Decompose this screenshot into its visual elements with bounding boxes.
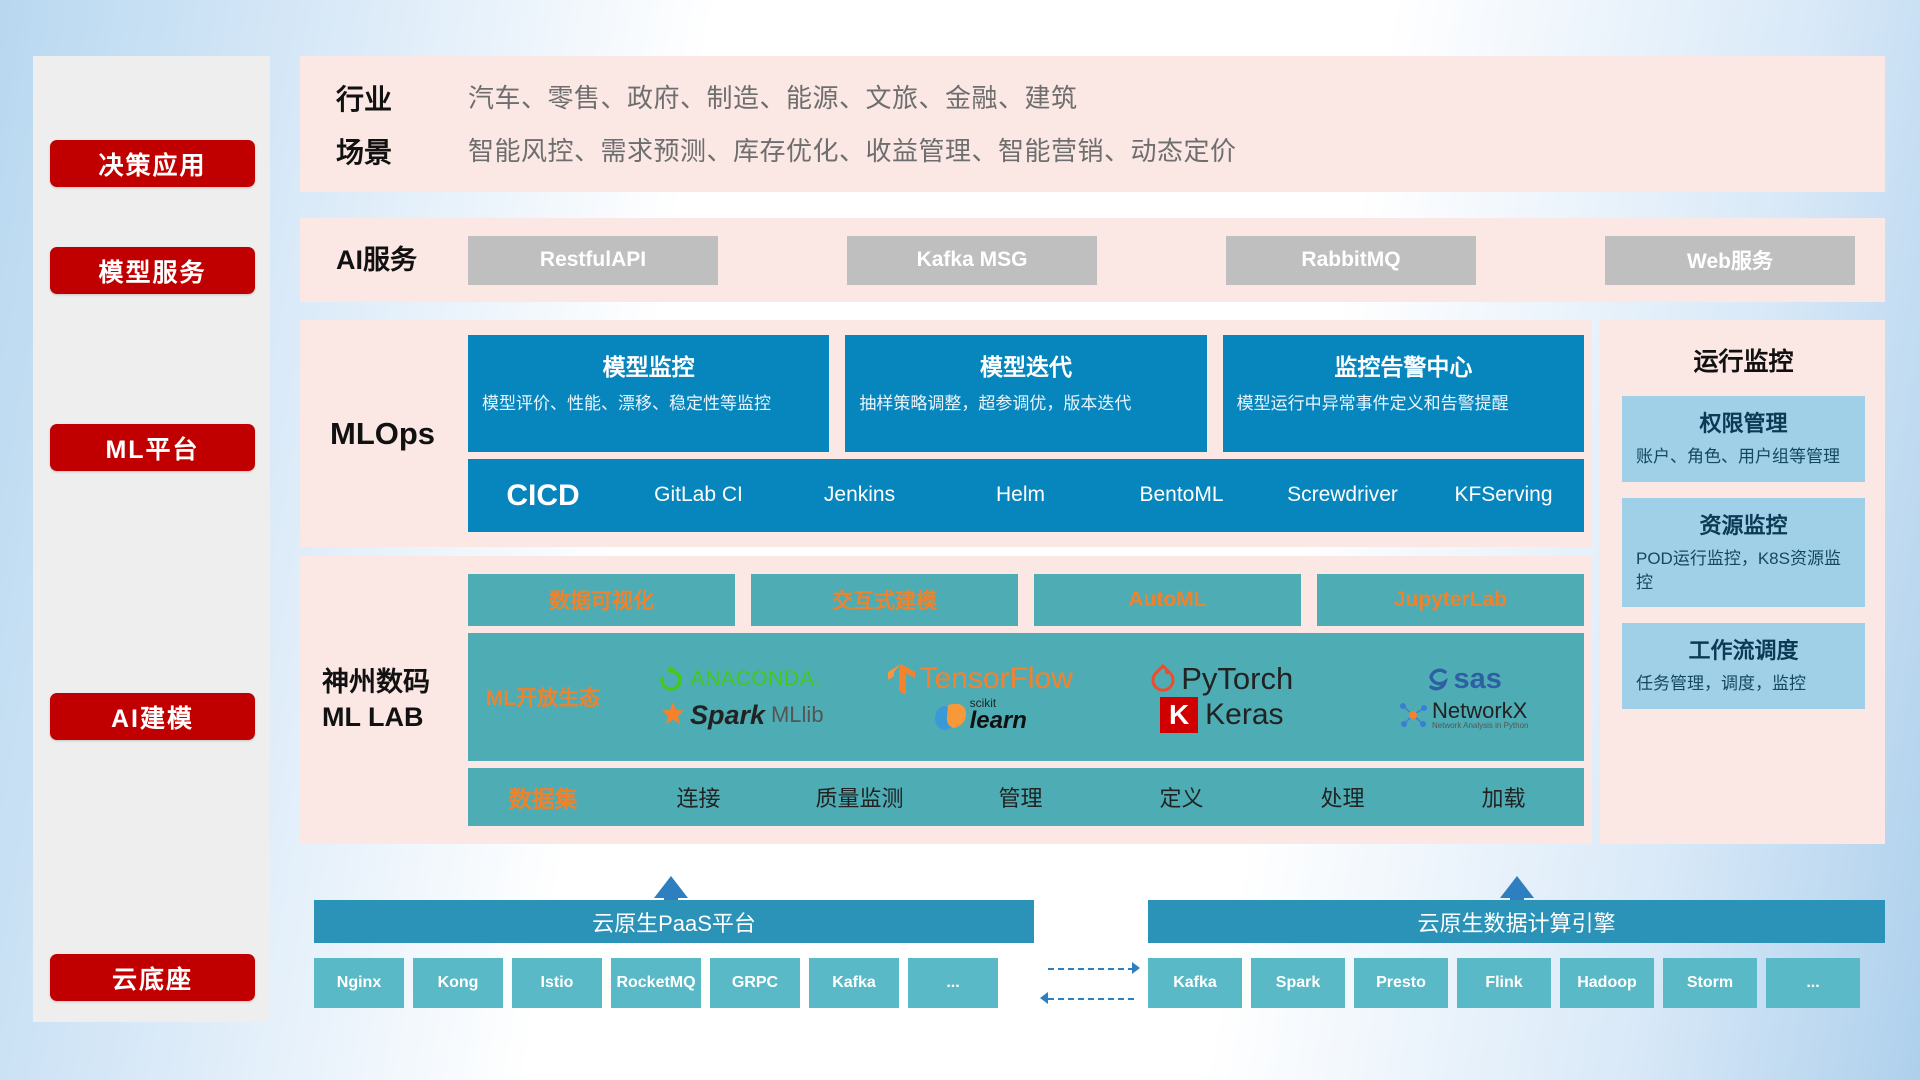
card-desc: 账户、角色、用户组等管理 xyxy=(1636,445,1851,469)
monitoring-card-permission[interactable]: 权限管理 账户、角色、用户组等管理 xyxy=(1622,396,1865,482)
rail-item-decision-app[interactable]: 决策应用 xyxy=(50,140,255,187)
industry-label: 行业 xyxy=(336,78,468,118)
arrow-up-left xyxy=(654,876,688,898)
card-desc: 任务管理，调度，监控 xyxy=(1636,672,1851,696)
arrow-up-right xyxy=(1500,876,1534,898)
pill-kafka[interactable]: Kafka xyxy=(809,958,899,1008)
paas-platform-bar[interactable]: 云原生PaaS平台 xyxy=(314,900,1034,943)
lab-tool-jupyterlab[interactable]: JupyterLab xyxy=(1317,574,1584,626)
card-desc: POD运行监控，K8S资源监控 xyxy=(1636,547,1851,595)
dataset-item-process[interactable]: 处理 xyxy=(1262,781,1423,813)
pill-rocketmq[interactable]: RocketMQ xyxy=(611,958,701,1008)
pill-presto[interactable]: Presto xyxy=(1354,958,1448,1008)
mlops-card-model-monitoring[interactable]: 模型监控 模型评价、性能、漂移、稳定性等监控 xyxy=(468,335,829,452)
service-chip-rabbitmq[interactable]: RabbitMQ xyxy=(1226,236,1476,285)
pill-flink[interactable]: Flink xyxy=(1457,958,1551,1008)
dataset-item-define[interactable]: 定义 xyxy=(1101,781,1262,813)
monitoring-title: 运行监控 xyxy=(1622,342,1865,378)
card-title: 资源监控 xyxy=(1636,508,1851,540)
card-desc: 抽样策略调整，超参调优，版本迭代 xyxy=(859,392,1192,415)
data-engine-bar[interactable]: 云原生数据计算引擎 xyxy=(1148,900,1885,943)
dashed-link-left xyxy=(1048,998,1134,1000)
service-chip-kafka-msg[interactable]: Kafka MSG xyxy=(847,236,1097,285)
card-title: 监控告警中心 xyxy=(1237,348,1570,382)
monitoring-card-workflow[interactable]: 工作流调度 任务管理，调度，监控 xyxy=(1622,623,1865,709)
tensorflow-logo-text: TensorFlow xyxy=(920,662,1073,696)
dashed-arrow-left xyxy=(1040,992,1048,1004)
industry-value: 汽车、零售、政府、制造、能源、文旅、金融、建筑 xyxy=(468,78,1885,118)
pill-istio[interactable]: Istio xyxy=(512,958,602,1008)
pill-spark[interactable]: Spark xyxy=(1251,958,1345,1008)
data-engine-component-pills: Kafka Spark Presto Flink Hadoop Storm ..… xyxy=(1148,958,1860,1008)
ai-service-band: AI服务 RestfulAPI Kafka MSG RabbitMQ Web服务 xyxy=(300,218,1885,302)
mlops-card-model-iteration[interactable]: 模型迭代 抽样策略调整，超参调优，版本迭代 xyxy=(845,335,1206,452)
cicd-item-kfserving[interactable]: KFServing xyxy=(1423,483,1584,507)
pytorch-logo: PyTorch xyxy=(1150,661,1293,697)
cicd-item-helm[interactable]: Helm xyxy=(940,483,1101,507)
card-desc: 模型评价、性能、漂移、稳定性等监控 xyxy=(482,392,815,415)
cicd-bar: CICD GitLab CI Jenkins Helm BentoML Scre… xyxy=(468,459,1584,532)
scenario-value: 智能风控、需求预测、库存优化、收益管理、智能营销、动态定价 xyxy=(468,131,1885,171)
mlops-label: MLOps xyxy=(300,414,468,454)
service-chip-restfulapi[interactable]: RestfulAPI xyxy=(468,236,718,285)
scikit-learn-logo-text: learn xyxy=(970,709,1027,733)
pill-storm[interactable]: Storm xyxy=(1663,958,1757,1008)
dataset-label: 数据集 xyxy=(468,780,618,814)
dataset-item-quality[interactable]: 质量监测 xyxy=(779,781,940,813)
card-title: 权限管理 xyxy=(1636,406,1851,438)
service-chip-web[interactable]: Web服务 xyxy=(1605,236,1855,285)
dashed-link-right xyxy=(1048,968,1134,970)
pill-more-right[interactable]: ... xyxy=(1766,958,1860,1008)
rail-item-ai-modeling[interactable]: AI建模 xyxy=(50,693,255,740)
anaconda-logo: ANACONDA. xyxy=(657,665,821,693)
dataset-item-load[interactable]: 加载 xyxy=(1423,781,1584,813)
card-title: 工作流调度 xyxy=(1636,633,1851,665)
ml-lab-label: 神州数码 ML LAB xyxy=(300,665,468,734)
scenario-label: 场景 xyxy=(336,131,468,171)
scikit-learn-logo: scikit learn xyxy=(934,697,1027,733)
lab-tool-data-visualization[interactable]: 数据可视化 xyxy=(468,574,735,626)
keras-logo-text: Keras xyxy=(1205,698,1283,732)
pill-kafka-right[interactable]: Kafka xyxy=(1148,958,1242,1008)
dataset-bar: 数据集 连接 质量监测 管理 定义 处理 加载 xyxy=(468,768,1584,826)
rail-item-ml-platform[interactable]: ML平台 xyxy=(50,424,255,471)
business-band: 行业 汽车、零售、政府、制造、能源、文旅、金融、建筑 场景 智能风控、需求预测、… xyxy=(300,56,1885,192)
ml-ecosystem-bar: ML开放生态 ANACONDA. TensorFlow PyTorch xyxy=(468,633,1584,761)
cicd-item-screwdriver[interactable]: Screwdriver xyxy=(1262,483,1423,507)
sas-logo: sas xyxy=(1425,663,1502,696)
pill-nginx[interactable]: Nginx xyxy=(314,958,404,1008)
dataset-item-connect[interactable]: 连接 xyxy=(618,781,779,813)
keras-logo: K Keras xyxy=(1160,697,1284,733)
monitoring-card-resource[interactable]: 资源监控 POD运行监控，K8S资源监控 xyxy=(1622,498,1865,608)
cicd-item-jenkins[interactable]: Jenkins xyxy=(779,483,940,507)
dataset-item-manage[interactable]: 管理 xyxy=(940,781,1101,813)
lab-tool-interactive-modeling[interactable]: 交互式建模 xyxy=(751,574,1018,626)
spark-mllib-logo: Spark MLlib xyxy=(654,700,824,731)
cicd-item-gitlab-ci[interactable]: GitLab CI xyxy=(618,483,779,507)
card-title: 模型迭代 xyxy=(859,348,1192,382)
pill-more-left[interactable]: ... xyxy=(908,958,998,1008)
paas-component-pills: Nginx Kong Istio RocketMQ GRPC Kafka ... xyxy=(314,958,998,1008)
pytorch-logo-text: PyTorch xyxy=(1181,661,1293,697)
pill-kong[interactable]: Kong xyxy=(413,958,503,1008)
monitoring-column: 运行监控 权限管理 账户、角色、用户组等管理 资源监控 POD运行监控，K8S资… xyxy=(1600,320,1885,844)
pill-grpc[interactable]: GRPC xyxy=(710,958,800,1008)
card-desc: 模型运行中异常事件定义和告警提醒 xyxy=(1237,392,1570,415)
lab-tool-automl[interactable]: AutoML xyxy=(1034,574,1301,626)
tensorflow-logo: TensorFlow xyxy=(888,662,1073,696)
pill-hadoop[interactable]: Hadoop xyxy=(1560,958,1654,1008)
ml-ecosystem-label: ML开放生态 xyxy=(468,682,618,712)
anaconda-logo-text: ANACONDA. xyxy=(691,667,821,691)
rail-item-cloud-base[interactable]: 云底座 xyxy=(50,954,255,1001)
cicd-item-bentoml[interactable]: BentoML xyxy=(1101,483,1262,507)
mlops-band: MLOps 模型监控 模型评价、性能、漂移、稳定性等监控 模型迭代 抽样策略调整… xyxy=(300,320,1592,547)
mlops-card-alert-center[interactable]: 监控告警中心 模型运行中异常事件定义和告警提醒 xyxy=(1223,335,1584,452)
ai-service-label: AI服务 xyxy=(336,243,468,278)
sas-logo-text: sas xyxy=(1454,663,1502,696)
dashed-arrow-right xyxy=(1132,962,1140,974)
card-title: 模型监控 xyxy=(482,348,815,382)
ml-lab-band: 神州数码 ML LAB 数据可视化 交互式建模 AutoML JupyterLa… xyxy=(300,556,1592,844)
networkx-logo: NetworkX Network Analysis in Python xyxy=(1398,699,1529,730)
cloud-base-section: 云原生PaaS平台 云原生数据计算引擎 Nginx Kong Istio Roc… xyxy=(300,880,1885,1050)
networkx-logo-text: NetworkX xyxy=(1432,699,1529,722)
left-stack-rail: 决策应用 模型服务 ML平台 AI建模 云底座 xyxy=(33,56,270,1022)
cicd-title: CICD xyxy=(468,479,618,513)
rail-item-model-service[interactable]: 模型服务 xyxy=(50,247,255,294)
